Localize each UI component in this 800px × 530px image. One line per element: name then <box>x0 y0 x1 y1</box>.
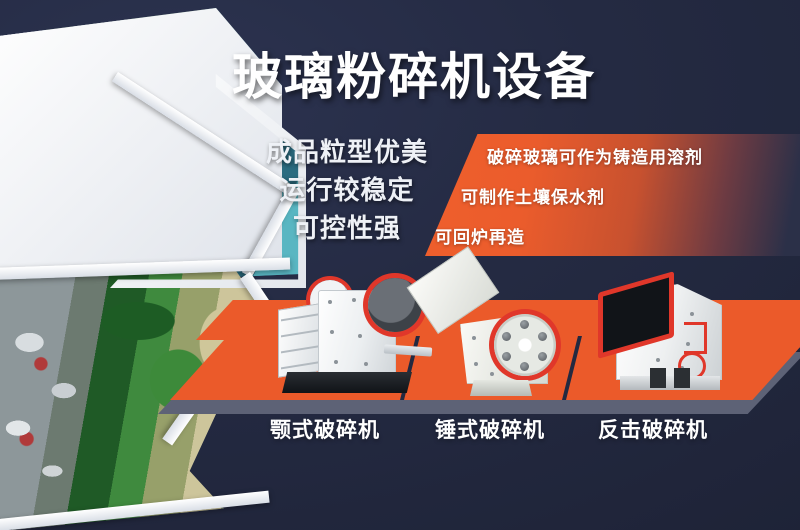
promo-banner: 玻璃粉碎机设备 成品粒型优美 运行较稳定 可控性强 破碎玻璃可作为铸造用溶剂 可… <box>0 0 800 530</box>
impact-discharge-slot <box>650 368 666 388</box>
jaw-base <box>282 372 412 393</box>
feature-item-1: 可制作土壤保水剂 <box>461 183 605 208</box>
feature-panel: 破碎玻璃可作为铸造用溶剂 可制作土壤保水剂 可回炉再造 <box>425 134 800 256</box>
impact-crusher-image <box>592 268 744 398</box>
machine-label-0: 颚式破碎机 <box>240 414 410 444</box>
machine-label-2: 反击破碎机 <box>568 414 738 444</box>
feature-item-0: 破碎玻璃可作为铸造用溶剂 <box>487 143 703 168</box>
feature-item-2: 可回炉再造 <box>435 223 525 248</box>
subhead-line-0: 成品粒型优美 <box>252 133 442 171</box>
impact-base <box>620 376 720 390</box>
machine-label-1: 锤式破碎机 <box>405 414 575 444</box>
subhead-list: 成品粒型优美 运行较稳定 可控性强 <box>252 133 442 247</box>
impact-discharge-slot <box>674 368 690 388</box>
hammer-crusher-image <box>432 276 574 398</box>
subhead-line-2: 可控性强 <box>252 209 442 247</box>
hammer-rotor-wheel <box>494 314 556 376</box>
hammer-base <box>470 380 532 396</box>
subhead-line-1: 运行较稳定 <box>252 171 442 209</box>
impact-side-bracket <box>684 322 707 354</box>
page-title: 玻璃粉碎机设备 <box>232 52 596 102</box>
